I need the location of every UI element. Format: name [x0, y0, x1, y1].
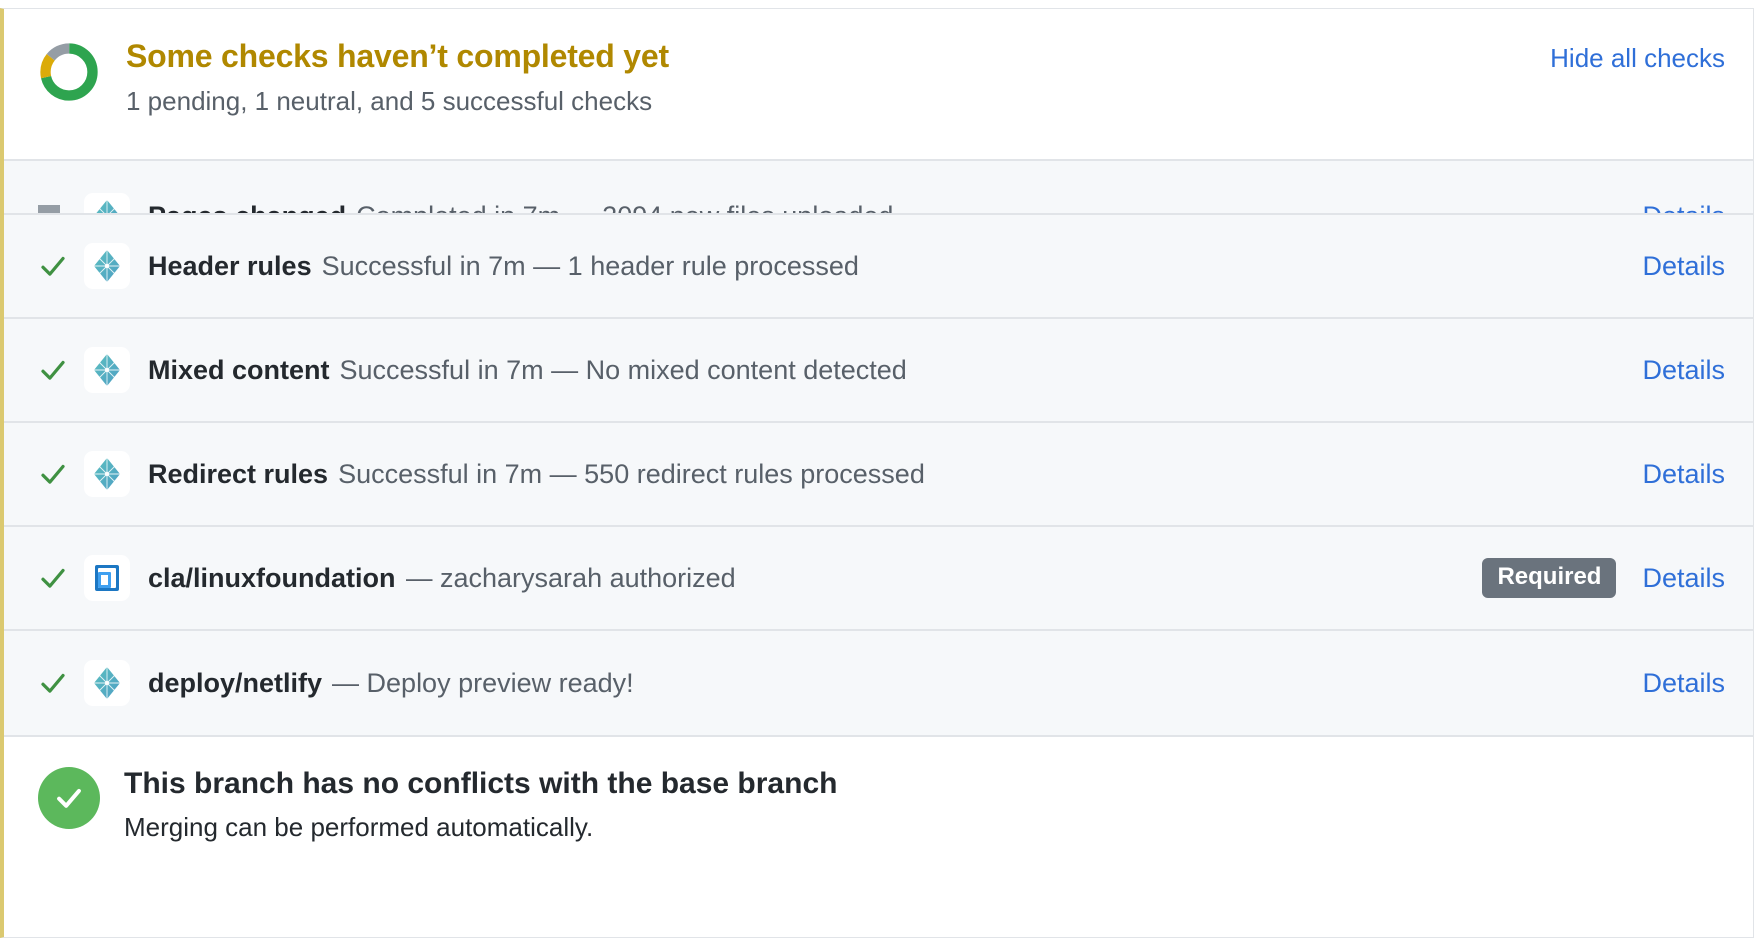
netlify-diamond-icon: [84, 243, 130, 289]
status-success-icon: [38, 251, 84, 281]
check-description: Successful in 7m — No mixed content dete…: [340, 355, 907, 386]
check-name: cla/linuxfoundation: [148, 563, 396, 594]
netlify-diamond-icon: [84, 451, 130, 497]
check-description: Completed in 7m — 2094 new files uploade…: [356, 201, 893, 216]
checks-panel: Some checks haven’t completed yet 1 pend…: [0, 8, 1754, 938]
checks-summary-text: Some checks haven’t completed yet 1 pend…: [126, 37, 1550, 118]
merge-status-subtitle: Merging can be performed automatically.: [124, 811, 1725, 844]
check-name: Pages changed: [148, 201, 346, 216]
netlify-diamond-icon: [84, 660, 130, 706]
status-badge: Required: [1482, 558, 1616, 598]
check-description: Successful in 7m — 550 redirect rules pr…: [338, 459, 925, 490]
pull-request-checks-screen: Some checks haven’t completed yet 1 pend…: [0, 0, 1754, 946]
status-success-icon: [38, 459, 84, 489]
cla-linuxfoundation-icon: [84, 555, 130, 601]
table-row[interactable]: Pages changed Completed in 7m — 2094 new…: [4, 161, 1753, 215]
check-name: Mixed content: [148, 355, 330, 386]
table-row[interactable]: cla/linuxfoundation — zacharysarah autho…: [4, 527, 1753, 631]
status-neutral-icon: [38, 205, 84, 215]
merge-success-check-icon: [38, 767, 100, 829]
checks-summary-header: Some checks haven’t completed yet 1 pend…: [4, 9, 1753, 159]
check-name: deploy/netlify: [148, 668, 322, 699]
checks-list: Pages changed Completed in 7m — 2094 new…: [4, 159, 1753, 735]
merge-status-title: This branch has no conflicts with the ba…: [124, 765, 1725, 803]
details-link[interactable]: Details: [1642, 459, 1725, 490]
check-name: Redirect rules: [148, 459, 328, 490]
check-description: — zacharysarah authorized: [406, 563, 736, 594]
status-success-icon: [38, 563, 84, 593]
checks-summary-title: Some checks haven’t completed yet: [126, 37, 1550, 75]
details-link[interactable]: Details: [1642, 668, 1725, 699]
check-description: — Deploy preview ready!: [332, 668, 634, 699]
merge-status-section: This branch has no conflicts with the ba…: [4, 735, 1753, 873]
details-link[interactable]: Details: [1642, 563, 1725, 594]
details-link[interactable]: Details: [1642, 355, 1725, 386]
table-row[interactable]: Redirect rules Successful in 7m — 550 re…: [4, 423, 1753, 527]
details-link[interactable]: Details: [1642, 251, 1725, 282]
checks-donut-chart: [38, 41, 100, 103]
checks-summary-subtitle: 1 pending, 1 neutral, and 5 successful c…: [126, 85, 1550, 118]
merge-status-text: This branch has no conflicts with the ba…: [124, 765, 1725, 843]
table-row[interactable]: Header rules Successful in 7m — 1 header…: [4, 215, 1753, 319]
hide-all-checks-link[interactable]: Hide all checks: [1550, 43, 1725, 74]
netlify-diamond-icon: [84, 193, 130, 215]
table-row[interactable]: deploy/netlify — Deploy preview ready! D…: [4, 631, 1753, 735]
details-link[interactable]: Details: [1642, 201, 1725, 216]
check-description: Successful in 7m — 1 header rule process…: [322, 251, 859, 282]
status-success-icon: [38, 668, 84, 698]
table-row[interactable]: Mixed content Successful in 7m — No mixe…: [4, 319, 1753, 423]
check-name: Header rules: [148, 251, 312, 282]
netlify-diamond-icon: [84, 347, 130, 393]
status-success-icon: [38, 355, 84, 385]
